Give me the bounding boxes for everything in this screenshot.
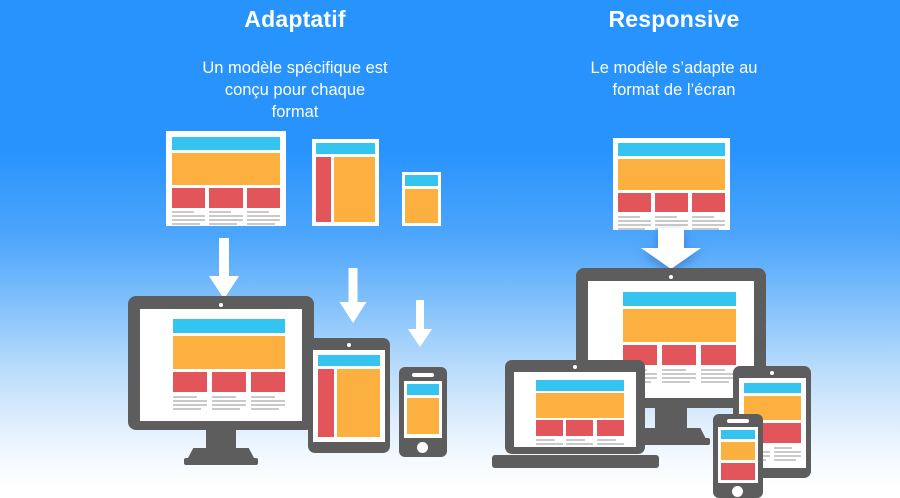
- screen-card: [536, 420, 563, 436]
- mockup-hero-block: [334, 157, 375, 222]
- mockup-text-column: [209, 211, 243, 225]
- screen-text-column: [597, 439, 624, 445]
- mockup-card: [618, 193, 651, 212]
- arrow-to-phone-icon: [406, 300, 434, 348]
- mockup-card: [172, 188, 205, 208]
- phone-home-button: [417, 442, 428, 453]
- column-subtitle-responsive: Le modèle s’adapte au format de l’écran: [494, 57, 854, 101]
- screen-card: [173, 372, 207, 392]
- tablet-camera-dot: [347, 343, 351, 347]
- subtitle-line: format: [115, 101, 475, 123]
- column-title-adaptive: Adaptatif: [115, 6, 475, 33]
- arrow-to-all-devices-icon: [638, 228, 704, 270]
- source-mockup-phone: [402, 172, 441, 226]
- source-mockup-desktop: [166, 131, 286, 226]
- monitor-neck: [655, 408, 687, 430]
- monitor-neck: [206, 430, 236, 451]
- source-mockup-tablet: [312, 139, 379, 226]
- screen-card: [701, 345, 736, 365]
- mockup-card: [247, 188, 280, 208]
- screen-text-column: [566, 439, 593, 445]
- arrow-to-monitor-icon: [206, 238, 242, 300]
- screen-header-bar: [407, 384, 439, 395]
- column-title-responsive: Responsive: [494, 6, 854, 33]
- subtitle-line: format de l’écran: [494, 79, 854, 101]
- monitor-camera-dot: [219, 303, 223, 307]
- monitor-screen: [140, 309, 302, 421]
- mockup-hero-block: [618, 159, 725, 190]
- arrow-to-tablet-icon: [337, 268, 369, 324]
- laptop-screen: [514, 372, 636, 447]
- phone-screen: [404, 381, 442, 438]
- mockup-card: [692, 193, 725, 212]
- screen-hero-block: [337, 369, 380, 437]
- screen-card: [721, 463, 755, 480]
- screen-hero-block: [407, 398, 439, 434]
- tablet-screen: [313, 350, 385, 442]
- screen-hero-block: [721, 442, 755, 460]
- screen-hero-block: [623, 309, 736, 342]
- source-mockup-responsive: [613, 138, 730, 230]
- screen-header-bar: [721, 430, 755, 439]
- infographic-canvas: Adaptatif Un modèle spécifique est conçu…: [0, 0, 900, 498]
- screen-header-bar: [318, 355, 380, 366]
- phone-speaker: [727, 419, 749, 423]
- screen-card: [597, 420, 624, 436]
- tablet-camera-dot: [770, 371, 774, 375]
- screen-text-column: [251, 396, 285, 410]
- subtitle-line: Le modèle s’adapte au: [494, 57, 854, 79]
- screen-text-column: [662, 369, 696, 383]
- mockup-card: [655, 193, 688, 212]
- mockup-hero-block: [405, 189, 438, 223]
- laptop-base: [492, 455, 659, 468]
- screen-text-column: [701, 369, 736, 383]
- screen-card: [251, 372, 285, 392]
- monitor-camera-dot: [669, 275, 673, 279]
- subtitle-line: conçu pour chaque: [115, 79, 475, 101]
- screen-hero-block: [536, 393, 624, 418]
- screen-text-column: [774, 447, 801, 461]
- screen-card: [566, 420, 593, 436]
- monitor-base-upper: [188, 448, 254, 458]
- mockup-header-bar: [316, 143, 375, 154]
- screen-sidebar: [318, 369, 334, 437]
- screen-card: [212, 372, 246, 392]
- subtitle-line: Un modèle spécifique est: [115, 57, 475, 79]
- phone-home-button: [732, 486, 743, 497]
- screen-header-bar: [173, 319, 285, 333]
- screen-header-bar: [744, 383, 801, 393]
- mockup-hero-block: [172, 153, 280, 185]
- mockup-header-bar: [618, 143, 725, 156]
- screen-card: [662, 345, 696, 365]
- mockup-text-column: [172, 211, 205, 225]
- monitor-base: [184, 458, 258, 465]
- column-subtitle-adaptive: Un modèle spécifique est conçu pour chaq…: [115, 57, 475, 123]
- phone-speaker: [412, 373, 434, 377]
- mockup-sidebar: [316, 157, 331, 222]
- screen-hero-block: [173, 336, 285, 369]
- mockup-text-column: [247, 211, 280, 225]
- mockup-header-bar: [172, 137, 280, 150]
- screen-text-column: [173, 396, 207, 410]
- screen-header-bar: [623, 292, 736, 306]
- screen-header-bar: [536, 380, 624, 391]
- screen-text-column: [536, 439, 563, 445]
- phone-screen: [718, 427, 758, 483]
- screen-text-column: [212, 396, 246, 410]
- mockup-card: [209, 188, 243, 208]
- laptop-camera-dot: [573, 365, 577, 369]
- mockup-header-bar: [405, 175, 438, 186]
